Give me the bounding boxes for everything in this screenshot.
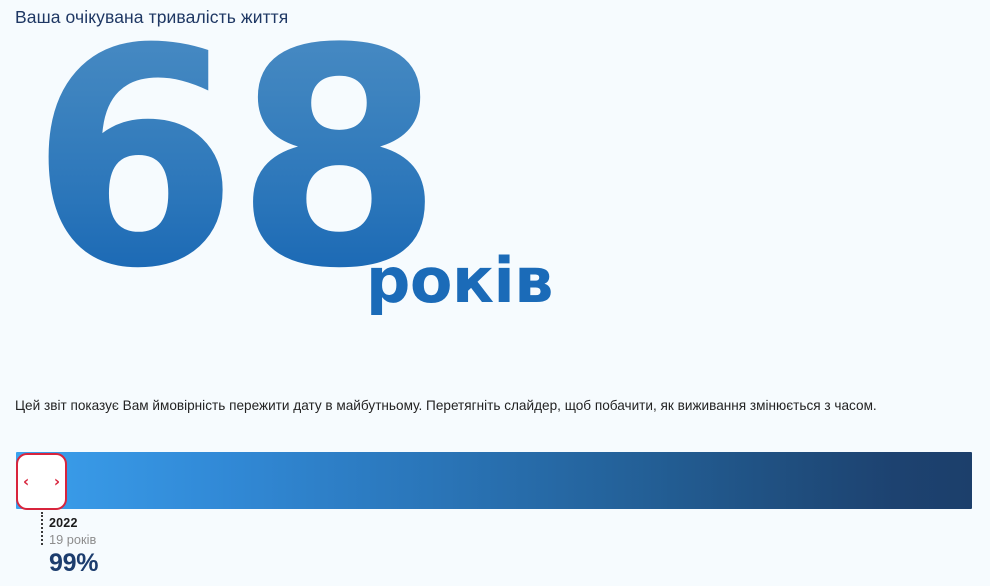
chevron-right-icon[interactable]: › <box>54 474 60 489</box>
readout-survival-percent: 99% <box>49 549 309 578</box>
slider-handle[interactable]: ‹ › <box>16 453 67 510</box>
readout-age: 19 років <box>49 531 309 548</box>
report-description: Цей звіт показує Вам ймовірність пережит… <box>15 396 905 417</box>
readout-year: 2022 <box>49 515 309 531</box>
slider-readout: 2022 19 років 99% <box>49 515 309 578</box>
survival-slider[interactable]: ‹ › <box>16 452 972 510</box>
slider-track[interactable] <box>16 452 972 509</box>
life-expectancy-unit: років <box>366 250 553 312</box>
slider-tick-line <box>41 512 43 545</box>
chevron-left-icon[interactable]: ‹ <box>23 474 29 489</box>
life-expectancy-hero: 68 років <box>0 62 990 332</box>
